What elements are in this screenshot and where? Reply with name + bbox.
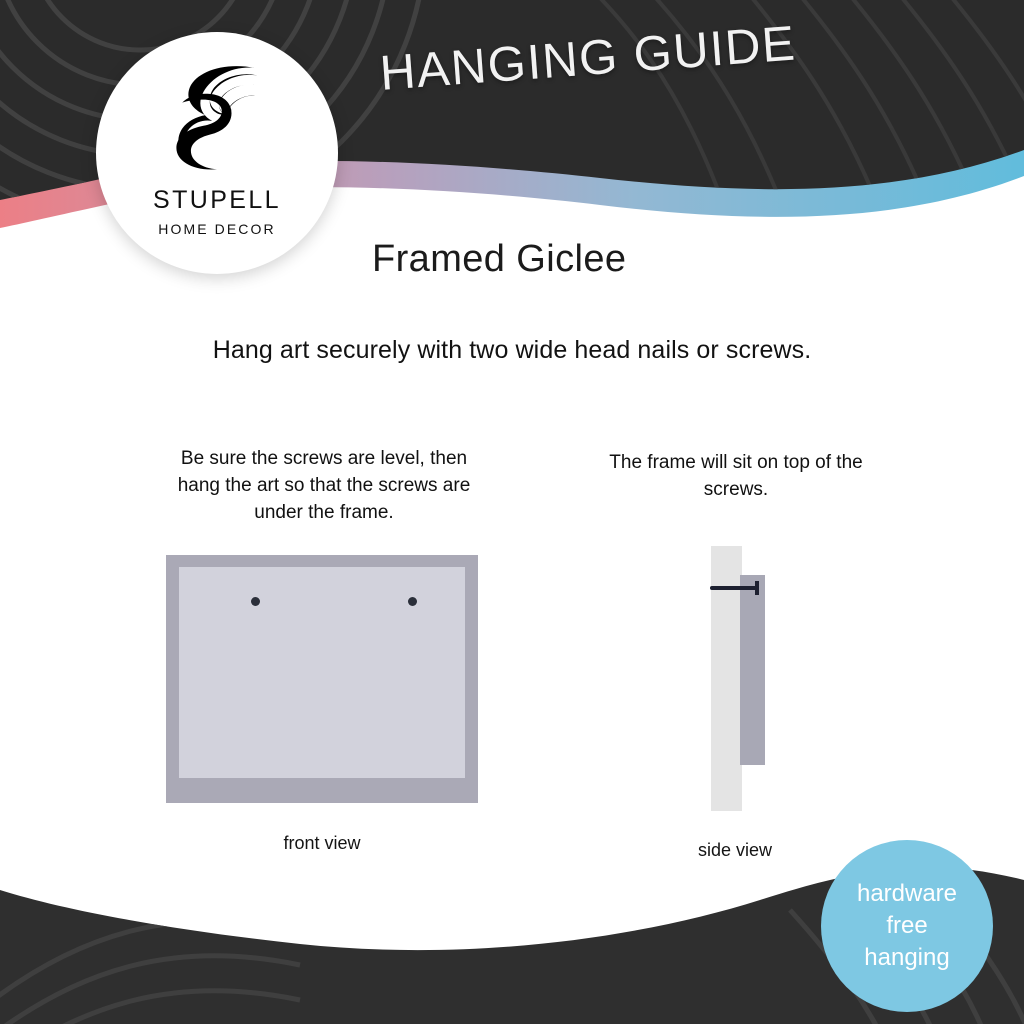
- hardware-free-hanging-badge: hardware free hanging: [821, 840, 993, 1012]
- nail-head-icon: [755, 581, 759, 595]
- side-view-label: side view: [640, 840, 830, 861]
- logo-brand-name: STUPELL: [153, 188, 281, 213]
- front-view-mat: [179, 567, 465, 778]
- page-title: HANGING GUIDE: [378, 15, 798, 101]
- logo-tagline: HOME DECOR: [158, 222, 275, 236]
- product-title: Framed Giclee: [372, 238, 626, 281]
- badge-line-3: hanging: [864, 942, 949, 974]
- badge-line-1: hardware: [857, 878, 957, 910]
- nail-icon: [710, 586, 758, 590]
- screw-dot-left: [251, 597, 260, 606]
- screw-dot-right: [408, 597, 417, 606]
- side-view-diagram: [700, 540, 810, 820]
- front-view-caption: Be sure the screws are level, then hang …: [160, 446, 488, 527]
- instruction-lede: Hang art securely with two wide head nai…: [0, 336, 1024, 365]
- side-view-caption: The frame will sit on top of the screws.: [600, 450, 872, 504]
- hanging-guide-page: STUPELL HOME DECOR HANGING GUIDE Framed …: [0, 0, 1024, 1024]
- front-view-diagram: [166, 555, 478, 803]
- badge-line-2: free: [886, 910, 927, 942]
- stupell-swoosh-icon: [159, 60, 275, 178]
- front-view-label: front view: [166, 833, 478, 854]
- stupell-logo-badge: STUPELL HOME DECOR: [96, 32, 338, 274]
- side-view-frame: [740, 575, 765, 765]
